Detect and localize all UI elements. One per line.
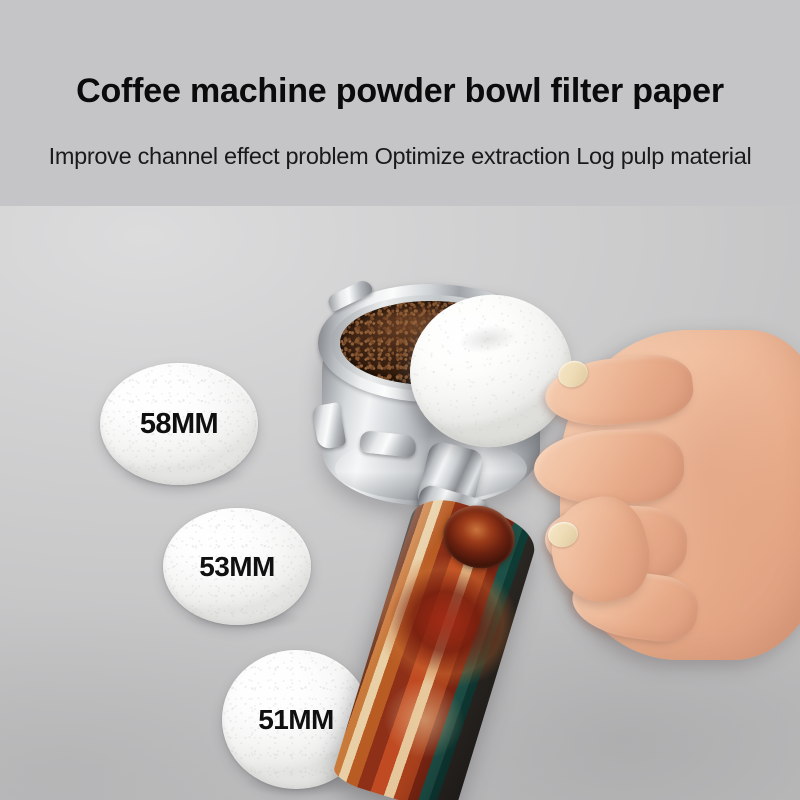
product-photo: 58MM 53MM 51MM (0, 200, 800, 800)
product-image: Coffee machine powder bowl filter paper … (0, 0, 800, 800)
page-subtitle: Improve channel effect problem Optimize … (0, 143, 800, 170)
hand (0, 200, 800, 800)
page-title: Coffee machine powder bowl filter paper (0, 72, 800, 111)
middle-finger (533, 427, 685, 506)
